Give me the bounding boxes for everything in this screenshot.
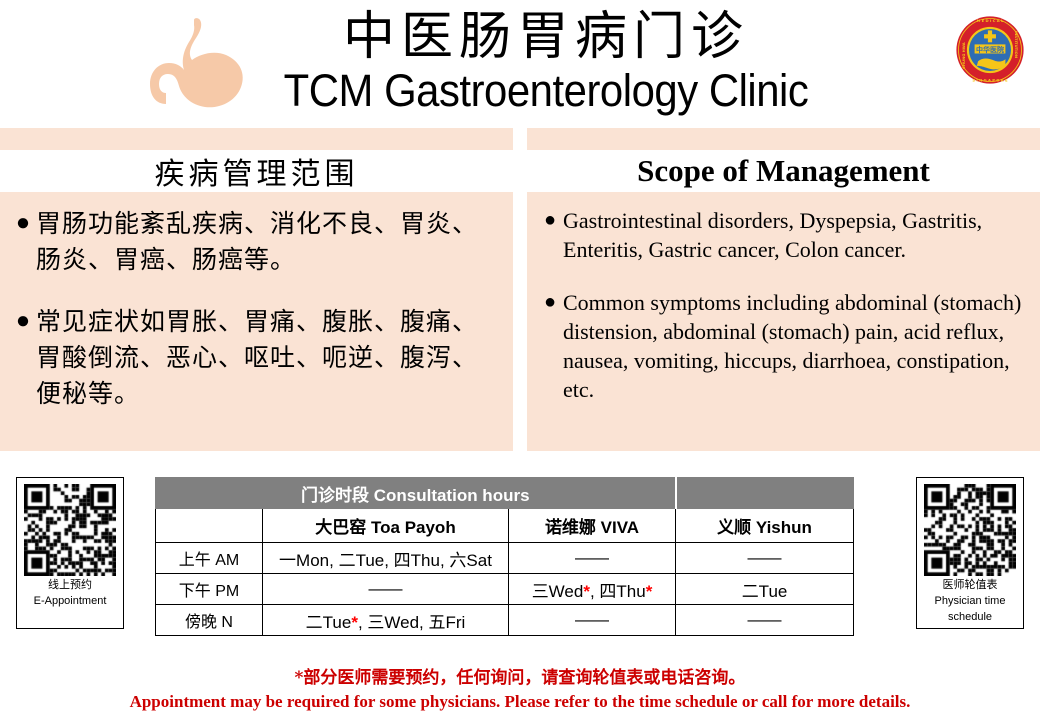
list-item: ● Common symptoms including abdominal (s…	[537, 288, 1026, 404]
table-banner-spacer	[676, 478, 854, 509]
clinic-seal-logo: M E D I C A L CHUNG HWA INSTITUTION S I …	[955, 15, 1025, 85]
footnote: *部分医师需要预约，任何询问，请查询轮值表或电话咨询。 Appointment …	[0, 666, 1040, 714]
column-header-toa-payoh: 大巴窑 Toa Payoh	[263, 509, 509, 543]
qr-block-physician-schedule[interactable]: 医师轮值表 Physician time schedule	[916, 477, 1024, 629]
header: 中医肠胃病门诊 TCM Gastroenterology Clinic M E …	[0, 0, 1040, 128]
svg-text:INSTITUTION: INSTITUTION	[1014, 31, 1019, 58]
poster-root: 中医肠胃病门诊 TCM Gastroenterology Clinic M E …	[0, 0, 1040, 720]
row-header-pm: 下午 PM	[156, 574, 263, 605]
panel-heading-wrap-right: Scope of Management	[527, 150, 1040, 192]
list-item: ● 常见症状如胃胀、胃痛、腹胀、腹痛、胃酸倒流、恶心、呕吐、呃逆、腹泻、便秘等。	[10, 304, 499, 412]
page-title-en: TCM Gastroenterology Clinic	[258, 66, 835, 116]
panel-heading-en: Scope of Management	[637, 153, 930, 189]
panel-body-left: ● 胃肠功能紊乱疾病、消化不良、胃炎、肠炎、胃癌、肠癌等。 ● 常见症状如胃胀、…	[0, 192, 513, 451]
table-banner-title: 门诊时段 Consultation hours	[156, 478, 676, 509]
bullet-dot-icon: ●	[10, 304, 36, 412]
page-title-cn: 中医肠胃病门诊	[236, 8, 856, 66]
cell-am-yishun: ——	[676, 543, 854, 574]
svg-text:CHUNG HWA: CHUNG HWA	[961, 42, 966, 69]
row-header-am: 上午 AM	[156, 543, 263, 574]
list-item: ● Gastrointestinal disorders, Dyspepsia,…	[537, 206, 1026, 264]
title-block: 中医肠胃病门诊 TCM Gastroenterology Clinic	[236, 8, 856, 116]
bullet-dot-icon: ●	[537, 206, 563, 264]
cell-night-yishun: ——	[676, 605, 854, 636]
table-row: 下午 PM —— 三Wed*, 四Thu* 二Tue	[156, 574, 854, 605]
table-row: 上午 AM 一Mon, 二Tue, 四Thu, 六Sat —— ——	[156, 543, 854, 574]
svg-text:M E D I C A L: M E D I C A L	[977, 18, 1004, 23]
bullet-text: Gastrointestinal disorders, Dyspepsia, G…	[563, 206, 1026, 264]
consultation-hours-table-wrap: 门诊时段 Consultation hours 大巴窑 Toa Payoh 诺维…	[155, 477, 853, 636]
footnote-en: Appointment may be required for some phy…	[0, 690, 1040, 714]
qr-code-icon[interactable]	[24, 484, 116, 576]
qr-label-en: Physician time	[921, 595, 1019, 608]
panel-top-band-right	[527, 128, 1040, 150]
bullet-text: Common symptoms including abdominal (sto…	[563, 288, 1026, 404]
bullet-text: 常见症状如胃胀、胃痛、腹胀、腹痛、胃酸倒流、恶心、呕吐、呃逆、腹泻、便秘等。	[36, 304, 499, 412]
panel-heading-wrap-left: 疾病管理范围	[0, 150, 513, 192]
column-header-yishun: 义顺 Yishun	[676, 509, 854, 543]
cell-am-viva: ——	[509, 543, 676, 574]
bullet-list-cn: ● 胃肠功能紊乱疾病、消化不良、胃炎、肠炎、胃癌、肠癌等。 ● 常见症状如胃胀、…	[10, 206, 499, 412]
svg-text:中华医院: 中华医院	[976, 45, 1004, 54]
qr-label-en2: schedule	[921, 611, 1019, 624]
qr-label-en: E-Appointment	[21, 595, 119, 608]
qr-code-icon[interactable]	[924, 484, 1016, 576]
table-banner-row: 门诊时段 Consultation hours	[156, 478, 854, 509]
footnote-cn: *部分医师需要预约，任何询问，请查询轮值表或电话咨询。	[0, 666, 1040, 690]
qr-block-eappointment[interactable]: 线上预约 E-Appointment	[16, 477, 124, 629]
column-header-viva: 诺维娜 VIVA	[509, 509, 676, 543]
panel-scope-en: Scope of Management ● Gastrointestinal d…	[527, 128, 1040, 451]
cell-night-toa-payoh: 二Tue*, 三Wed, 五Fri	[263, 605, 509, 636]
panel-top-band-left	[0, 128, 513, 150]
qr-label-cn: 医师轮值表	[921, 579, 1019, 592]
cell-pm-toa-payoh: ——	[263, 574, 509, 605]
panel-heading-cn: 疾病管理范围	[155, 149, 359, 193]
bullet-list-en: ● Gastrointestinal disorders, Dyspepsia,…	[537, 206, 1026, 404]
table-row: 傍晚 N 二Tue*, 三Wed, 五Fri —— ——	[156, 605, 854, 636]
bullet-dot-icon: ●	[537, 288, 563, 404]
table-header-row: 大巴窑 Toa Payoh 诺维娜 VIVA 义顺 Yishun	[156, 509, 854, 543]
bullet-dot-icon: ●	[10, 206, 36, 278]
qr-label-cn: 线上预约	[21, 579, 119, 592]
list-item: ● 胃肠功能紊乱疾病、消化不良、胃炎、肠炎、胃癌、肠癌等。	[10, 206, 499, 278]
svg-text:S I N G A P O R E: S I N G A P O R E	[972, 78, 1008, 83]
panel-scope-cn: 疾病管理范围 ● 胃肠功能紊乱疾病、消化不良、胃炎、肠炎、胃癌、肠癌等。 ● 常…	[0, 128, 513, 451]
panel-body-right: ● Gastrointestinal disorders, Dyspepsia,…	[527, 192, 1040, 451]
cell-am-toa-payoh: 一Mon, 二Tue, 四Thu, 六Sat	[263, 543, 509, 574]
row-header-night: 傍晚 N	[156, 605, 263, 636]
bullet-text: 胃肠功能紊乱疾病、消化不良、胃炎、肠炎、胃癌、肠癌等。	[36, 206, 499, 278]
column-header-blank	[156, 509, 263, 543]
cell-pm-viva: 三Wed*, 四Thu*	[509, 574, 676, 605]
cell-night-viva: ——	[509, 605, 676, 636]
consultation-hours-table: 门诊时段 Consultation hours 大巴窑 Toa Payoh 诺维…	[155, 477, 854, 636]
cell-pm-yishun: 二Tue	[676, 574, 854, 605]
